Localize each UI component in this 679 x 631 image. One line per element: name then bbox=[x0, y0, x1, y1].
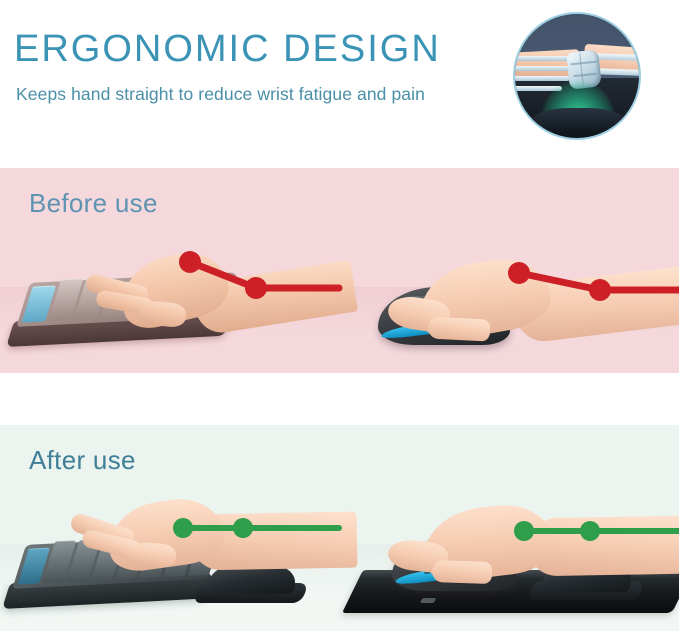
header-section: ERGONOMIC DESIGN Keeps hand straight to … bbox=[0, 0, 679, 150]
ergonomic-design-infographic: ERGONOMIC DESIGN Keeps hand straight to … bbox=[0, 0, 679, 631]
page-subtitle: Keeps hand straight to reduce wrist fati… bbox=[16, 84, 425, 105]
scene-after-keyboard bbox=[0, 425, 339, 631]
badge-wrist-rest bbox=[530, 108, 627, 130]
finger bbox=[432, 560, 493, 584]
badge-bone-icon bbox=[515, 76, 570, 81]
scene-after-mouse bbox=[340, 425, 679, 631]
finger bbox=[427, 316, 490, 341]
badge-illustration bbox=[515, 14, 639, 138]
panel-after-use: After use bbox=[0, 425, 679, 631]
panel-before-use: Before use bbox=[0, 168, 679, 373]
scene-before-mouse bbox=[340, 168, 679, 373]
wrist-rest bbox=[205, 565, 301, 603]
wrist-anatomy-badge bbox=[513, 12, 641, 140]
page-title: ERGONOMIC DESIGN bbox=[14, 26, 441, 72]
mouse-pad-logo bbox=[419, 598, 435, 603]
scene-before-keyboard bbox=[0, 168, 339, 373]
